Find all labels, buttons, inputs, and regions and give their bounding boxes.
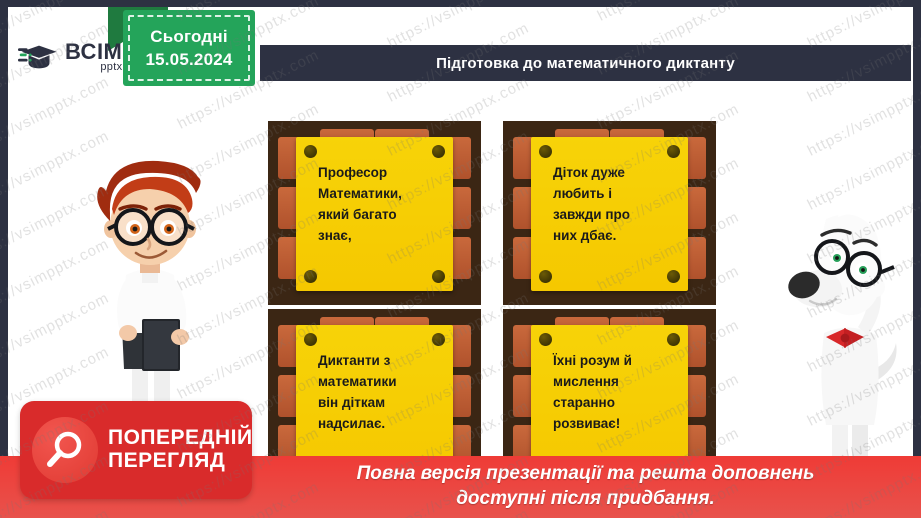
screw-icon [304, 270, 317, 283]
preview-badge-line1: ПОПЕРЕДНІЙ [108, 427, 253, 450]
screw-icon [539, 145, 552, 158]
page-title: Підготовка до математичного диктанту [436, 55, 735, 72]
date-badge-value: 15.05.2024 [145, 50, 232, 70]
preview-badge-line2: ПЕРЕГЛЯД [108, 450, 253, 473]
comic-panel-grid: Професор Математики, який багато знає, Д… [268, 121, 716, 493]
banner-line-2: доступні після придбання. [456, 487, 715, 512]
dog-character [780, 185, 913, 477]
panel-text: Діток дуже любить і завжди про них дбає. [553, 163, 676, 247]
comic-panel-1: Професор Математики, який багато знає, [268, 121, 481, 305]
graduation-cap-icon [18, 40, 60, 74]
screw-icon [304, 333, 317, 346]
screw-icon [667, 333, 680, 346]
date-badge: Сьогодні 15.05.2024 [123, 10, 255, 86]
vsimpptx-logo: ВСІМ pptx [12, 31, 134, 83]
screw-icon [432, 333, 445, 346]
screw-icon [432, 270, 445, 283]
panel-text: Професор Математики, який багато знає, [318, 163, 441, 247]
screw-icon [539, 270, 552, 283]
panel-text: Диктанти з математики він діткам надсила… [318, 351, 441, 435]
date-badge-label: Сьогодні [150, 27, 228, 47]
screw-icon [432, 145, 445, 158]
panel-plate: Професор Математики, який багато знає, [296, 137, 453, 291]
screw-icon [667, 145, 680, 158]
logo-wordmark: ВСІМ pptx [65, 41, 122, 73]
boy-character [70, 147, 230, 429]
comic-panel-2: Діток дуже любить і завжди про них дбає. [503, 121, 716, 305]
logo-main-text: ВСІМ [65, 41, 122, 63]
slide-header-bar: Підготовка до математичного диктанту [260, 45, 911, 81]
screw-icon [539, 333, 552, 346]
panel-plate: Діток дуже любить і завжди про них дбає. [531, 137, 688, 291]
magnifier-icon [32, 417, 98, 483]
presentation-slide: ВСІМ pptx Сьогодні 15.05.2024 Підготовка… [0, 0, 921, 518]
slide-canvas: ВСІМ pptx Сьогодні 15.05.2024 Підготовка… [8, 7, 913, 511]
preview-badge: ПОПЕРЕДНІЙ ПЕРЕГЛЯД [20, 401, 252, 499]
screw-icon [304, 145, 317, 158]
screw-icon [667, 270, 680, 283]
preview-badge-label: ПОПЕРЕДНІЙ ПЕРЕГЛЯД [108, 427, 253, 472]
banner-line-1: Повна версія презентації та решта доповн… [357, 462, 815, 487]
panel-text: Їхні розум й мислення старанно розвиває! [553, 351, 676, 435]
